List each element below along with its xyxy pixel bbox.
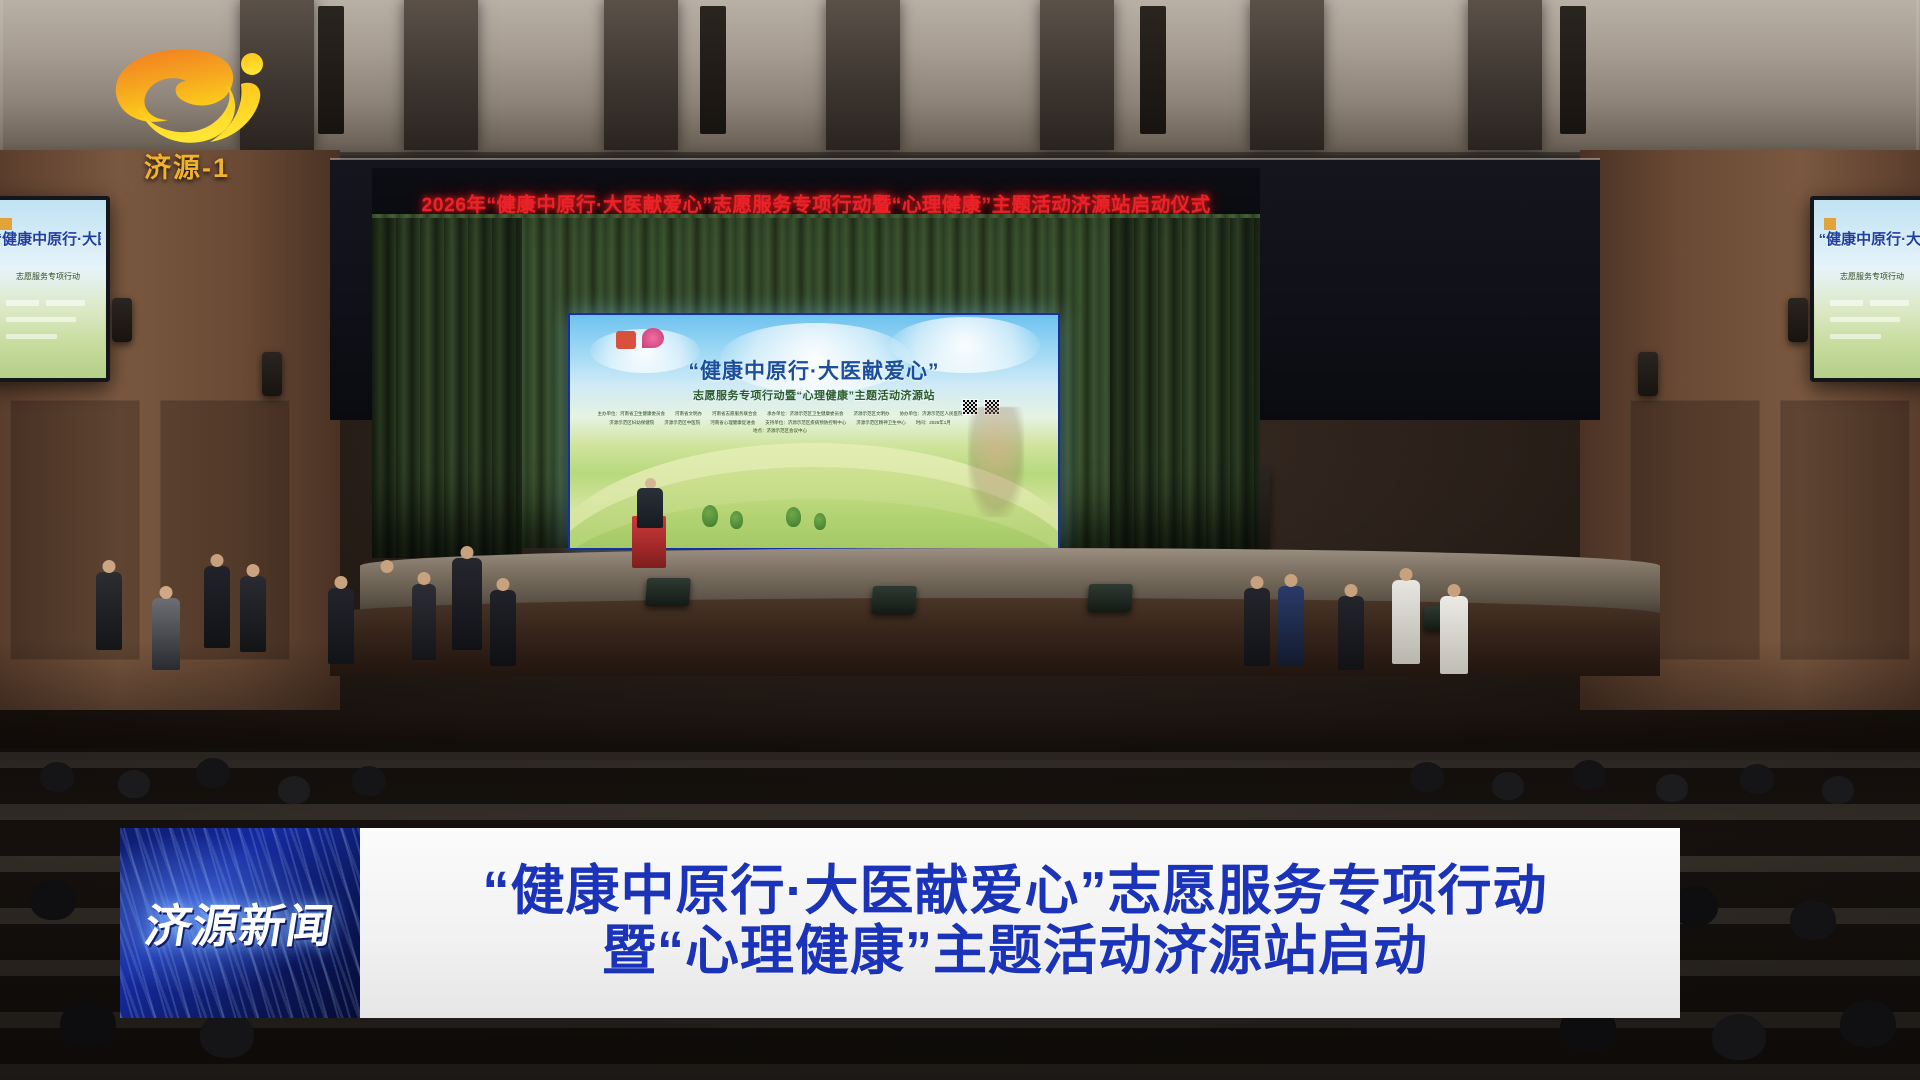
lotus-flower-icon [642,328,664,348]
standing-person [374,572,400,656]
decor-block [6,317,76,322]
side-monitor-left-title: “健康中原行·大医献爱心” [0,228,101,249]
person-head [335,576,348,589]
person-head [103,560,116,573]
decor-block [6,300,38,306]
decor-block [1830,334,1881,339]
fine-print-line: 河南省心理健康促进会 [710,420,755,427]
headline-line-1: “健康中原行·大医献爱心”志愿服务专项行动 [483,861,1548,921]
audience-head [352,766,386,796]
ceiling-light-slot [1140,6,1166,134]
led-screen-fine-print: 主办单位：河南省卫生健康委员会 河南省文明办 河南省志愿服务联合会 承办单位：济… [582,411,978,435]
audience-head [60,1000,116,1048]
decor-block [46,300,85,306]
person-head [1251,576,1264,589]
ceiling-beam [404,0,478,150]
tree-graphic [702,505,718,527]
person-head [1285,574,1298,587]
standing-person [96,572,122,650]
person-head [418,572,431,585]
audience-head [118,770,150,798]
audience-head [1840,1000,1896,1048]
person-head [461,546,474,559]
camera-operator [452,558,482,650]
tree-graphic [730,511,743,529]
stage-curtain-left [372,218,522,558]
broadcast-frame: “健康中原行·大医献爱心” 志愿服务专项行动 “健康中原行·大医献爱心” 志愿服… [0,0,1920,1080]
ceiling-seam [1916,0,1919,150]
ceiling-light-slot [1560,6,1586,134]
floor-monitor-speaker [1087,584,1133,612]
audience-head [1740,764,1774,794]
audience-head [1492,772,1524,800]
person-head [381,560,394,573]
fine-print-line: 地点：济源示范区会议中心 [753,428,807,435]
standing-person [152,598,180,670]
headline-panel: “健康中原行·大医献爱心”志愿服务专项行动 暨“心理健康”主题活动济源站启动 [360,828,1680,1018]
ceiling-beam [604,0,678,150]
stage-banner: 2026年“健康中原行·大医献爱心”志愿服务专项行动暨“心理健康”主题活动济源站… [372,168,1260,218]
audience-head [1822,776,1854,804]
person-head [1448,584,1461,597]
audience-head [1410,762,1444,792]
person-head [497,578,510,591]
standing-person [412,584,436,660]
standing-person [490,590,516,666]
stage-banner-text: 2026年“健康中原行·大医献爱心”志愿服务专项行动暨“心理健康”主题活动济源站… [422,196,1211,216]
decor-block [1830,300,1862,306]
program-badge-text: 济源新闻 [141,890,339,956]
fine-print-line: 河南省志愿服务联合会 [712,411,757,418]
ceiling-light-slot [318,6,344,134]
fine-print-line: 济源示范区文明办 [854,411,890,418]
fine-print-line: 济源示范区中医院 [664,420,700,427]
decor-square [0,218,12,230]
medical-staff-white-coat [1440,596,1468,674]
aisle-shadow-band [0,640,1920,760]
wall-speaker [262,352,282,396]
person-head [247,564,260,577]
side-monitor-left: “健康中原行·大医献爱心” 志愿服务专项行动 [0,196,110,382]
audience-head [278,776,310,804]
fine-print-line: 主办单位：河南省卫生健康委员会 [598,411,666,418]
person-body [637,488,663,528]
wall-speaker [1788,298,1808,342]
standing-person [240,576,266,652]
channel-logo-text: 济源-1 [92,146,282,185]
speaker-at-podium [637,478,663,528]
side-monitor-left-subtitle: 志愿服务专项行动 [0,271,99,282]
person-head [160,586,173,599]
audience-head [1790,900,1836,940]
ceiling-beam [1468,0,1542,150]
wall-speaker [1638,352,1658,396]
person-head [1400,568,1413,581]
audience-head [40,762,74,792]
audience-head [1572,760,1606,790]
fine-print-line: 济源示范区妇幼保健院 [609,420,654,427]
standing-person [328,588,354,664]
side-monitor-left-screen: “健康中原行·大医献爱心” 志愿服务专项行动 [0,200,106,378]
decor-block [1830,317,1900,322]
decor-block [6,334,57,339]
fine-print-line: 承办单位：济源示范区卫生健康委员会 [767,411,844,418]
medical-staff-white-coat [1392,580,1420,664]
event-emblem-icon [616,331,636,349]
ceiling-beam [1250,0,1324,150]
lower-third-banner: 济源新闻 “健康中原行·大医献爱心”志愿服务专项行动 暨“心理健康”主题活动济源… [120,828,1680,1018]
stage-curtain-right [1110,218,1260,558]
side-monitor-right-title: “健康中原行·大医献爱心” [1819,228,1920,249]
fine-print-line: 时间：2026年1月 [916,420,951,427]
standing-person [1244,588,1270,666]
floor-monitor-speaker [645,578,691,606]
fine-print-line: 协办单位：济源示范区人民医院 [900,411,963,418]
decor-square [1824,218,1836,230]
person-head [211,554,224,567]
ceiling-light-slot [700,6,726,134]
audience-head [1712,1014,1766,1060]
ceiling-beam [826,0,900,150]
program-badge: 济源新闻 [120,828,360,1018]
standing-person [204,566,230,648]
floor-monitor-speaker [871,586,917,614]
tree-graphic [814,513,826,530]
ceiling-seam [0,0,3,150]
tree-graphic [786,507,801,527]
decor-block [1870,300,1909,306]
channel-logo: 济源-1 [92,42,282,190]
wall-panel [1780,400,1910,660]
ceiling-slab [0,0,1920,166]
fine-print-line: 支持单位：济源示范区疾病预防控制中心 [765,420,846,427]
fine-print-line: 河南省文明办 [675,411,702,418]
ceiling-beam [1040,0,1114,150]
side-monitor-right-screen: “健康中原行·大医献爱心” 志愿服务专项行动 [1814,200,1920,378]
audience-head [200,1012,254,1058]
standing-person [1338,596,1364,670]
wall-speaker [112,298,132,342]
led-screen-title: “健康中原行·大医献爱心” [570,355,1058,385]
fine-print-line: 济源示范区精神卫生中心 [856,420,906,427]
led-mascot-figure [968,407,1024,517]
side-monitor-right-subtitle: 志愿服务专项行动 [1821,271,1920,282]
person-head [1345,584,1358,597]
standing-person [1278,586,1304,666]
audience-head [30,880,76,920]
audience-head [196,758,230,788]
jiyuan-tv-swirl-logo-icon [102,42,272,152]
side-monitor-right: “健康中原行·大医献爱心” 志愿服务专项行动 [1810,196,1920,382]
headline-line-2: 暨“心理健康”主题活动济源站启动 [602,921,1428,981]
audience-head [1656,774,1688,802]
